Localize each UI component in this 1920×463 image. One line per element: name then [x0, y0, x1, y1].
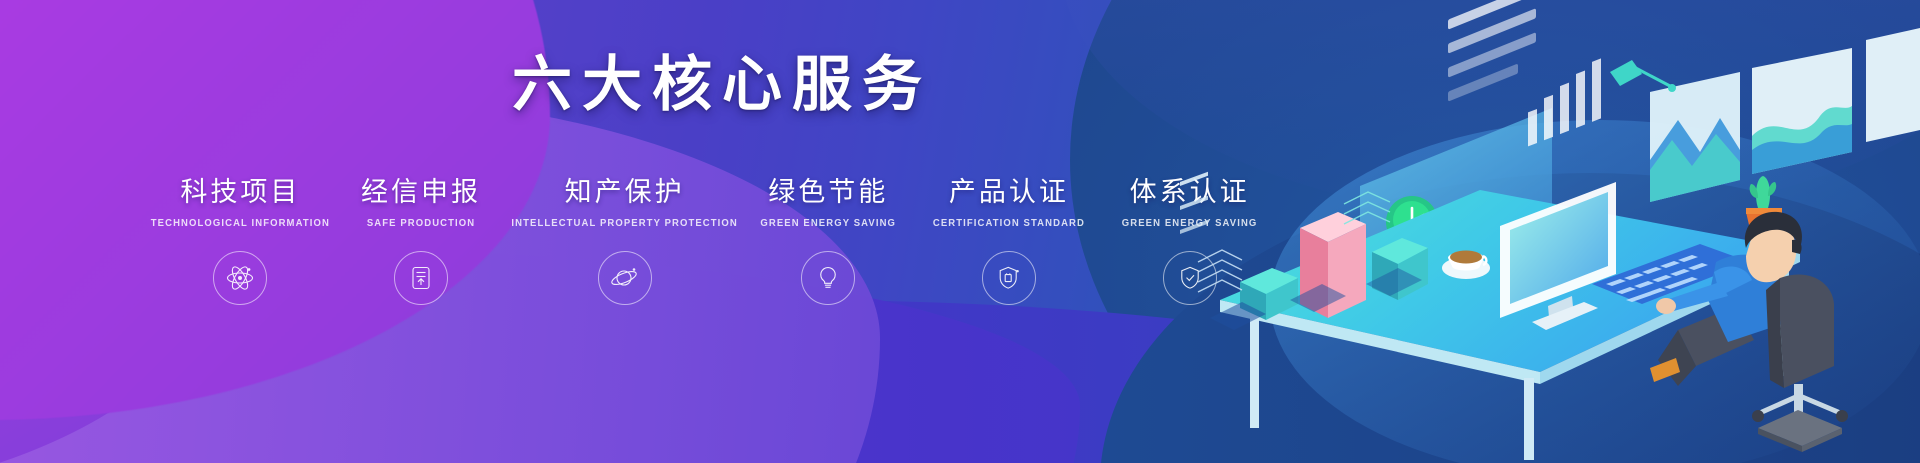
line-motif-left — [1198, 250, 1242, 292]
services-list: 科技项目 TECHNOLOGICAL INFORMATION 经信申报 SAFE… — [150, 170, 1280, 305]
service-title-en: CERTIFICATION STANDARD — [933, 218, 1085, 230]
isometric-office-illustration — [1180, 0, 1920, 463]
mountain-chart-card — [1650, 72, 1740, 202]
desk-leg-front — [1524, 378, 1534, 460]
service-title-cn: 科技项目 — [180, 170, 300, 209]
planet-icon[interactable] — [598, 251, 652, 305]
service-title-cn: 经信申报 — [361, 170, 481, 209]
document-card — [1866, 0, 1920, 142]
wave-chart-card — [1752, 48, 1852, 174]
service-title-en: SAFE PRODUCTION — [367, 218, 475, 230]
atom-icon[interactable] — [213, 251, 267, 305]
service-title-en: GREEN ENERGY SAVING — [760, 218, 896, 230]
page-title: 六大核心服务 — [512, 36, 932, 123]
desk-lamp — [1610, 60, 1676, 92]
desk-leg-left — [1250, 308, 1259, 428]
service-title-cn: 产品认证 — [949, 170, 1069, 209]
side-panels — [1180, 172, 1208, 234]
lightbulb-icon[interactable] — [801, 251, 855, 305]
shield-badge-icon[interactable] — [982, 251, 1036, 305]
service-item-technological-information[interactable]: 科技项目 TECHNOLOGICAL INFORMATION — [150, 170, 331, 305]
service-item-safe-production[interactable]: 经信申报 SAFE PRODUCTION — [331, 170, 512, 305]
service-title-en: INTELLECTUAL PROPERTY PROTECTION — [511, 218, 737, 230]
service-item-intellectual-property-protection[interactable]: 知产保护 INTELLECTUAL PROPERTY PROTECTION — [511, 170, 737, 305]
service-item-green-energy-saving[interactable]: 绿色节能 GREEN ENERGY SAVING — [738, 170, 919, 305]
service-title-en: TECHNOLOGICAL INFORMATION — [151, 218, 330, 230]
service-item-certification-standard[interactable]: 产品认证 CERTIFICATION STANDARD — [919, 170, 1100, 305]
document-upload-icon[interactable] — [394, 251, 448, 305]
banner-root: 六大核心服务 科技项目 TECHNOLOGICAL INFORMATION 经信… — [0, 0, 1920, 463]
service-title-cn: 绿色节能 — [768, 170, 888, 209]
service-title-cn: 知产保护 — [565, 170, 685, 209]
